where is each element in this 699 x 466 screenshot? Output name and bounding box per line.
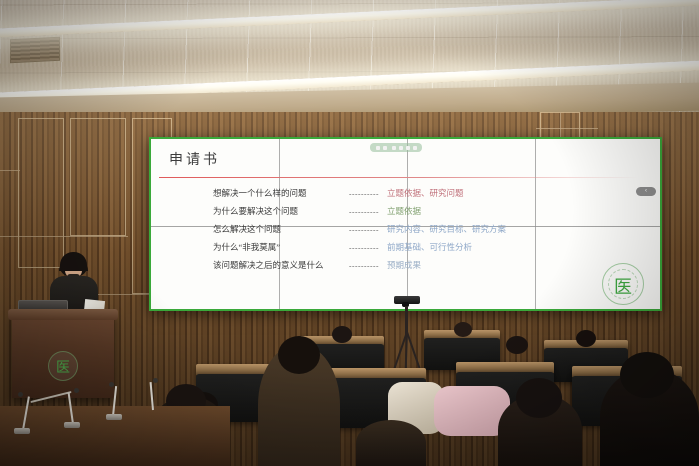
slide-line: 怎么解决这个问题 ---------- 研究内容、研究目标、研究方案 <box>213 223 652 241</box>
slide-line-dash: ---------- <box>349 261 379 270</box>
slide-title: 申请书 <box>169 149 220 169</box>
audience-head <box>278 336 320 374</box>
podium-top-edge <box>8 309 118 320</box>
microphone-head-icon <box>18 392 23 397</box>
slide-title-underline <box>159 177 638 178</box>
camera-tripod <box>392 296 422 374</box>
slide-line-dash: ---------- <box>349 243 379 252</box>
audience-head <box>506 336 528 354</box>
audience-head <box>516 378 562 418</box>
slide-line-question: 怎么解决这个问题 <box>213 223 341 235</box>
audience-head <box>332 326 352 343</box>
slide-line: 该问题解决之后的意义是什么 ---------- 预期成果 <box>213 259 652 277</box>
slide-line-question: 想解决一个什么样的问题 <box>213 187 341 199</box>
podium-emblem-icon: 医 <box>48 351 78 381</box>
slide-institution-logo-icon: 医 <box>602 263 644 305</box>
microphone-base <box>14 428 30 434</box>
lectern-podium: 医 <box>12 312 114 398</box>
slide-line-dash: ---------- <box>349 189 379 198</box>
slide-line-question: 该问题解决之后的意义是什么 <box>213 259 341 271</box>
microphone-head-icon <box>109 382 114 387</box>
podium-emblem-glyph: 医 <box>49 357 77 377</box>
microphone-base <box>106 414 122 420</box>
audience-head <box>454 322 472 337</box>
microphone-head-icon <box>153 378 158 383</box>
slide-line: 想解决一个什么样的问题 ---------- 立题依据、研究问题 <box>213 187 652 205</box>
microphone-base <box>64 422 80 428</box>
audience-head <box>620 352 674 398</box>
slide-line: 为什么“非我莫属” ---------- 前期基础、可行性分析 <box>213 241 652 259</box>
slide-line-answer: 立题依据 <box>387 205 421 217</box>
slide-line-question: 为什么“非我莫属” <box>213 241 341 253</box>
presentation-floating-toolbar[interactable] <box>370 143 422 152</box>
slide-body: 想解决一个什么样的问题 ---------- 立题依据、研究问题 为什么要解决这… <box>213 187 652 277</box>
ceiling <box>0 0 699 118</box>
slide-line-dash: ---------- <box>349 225 379 234</box>
audience-person <box>356 420 426 466</box>
slide-line: 为什么要解决这个问题 ---------- 立题依据 <box>213 205 652 223</box>
audience-head <box>576 330 596 347</box>
ceiling-vent-icon <box>10 37 60 64</box>
slide-line-answer: 前期基础、可行性分析 <box>387 241 472 253</box>
slide-line-dash: ---------- <box>349 207 379 216</box>
microphone-head-icon <box>74 388 79 393</box>
slide-line-answer: 研究内容、研究目标、研究方案 <box>387 223 506 235</box>
slide-logo-glyph: 医 <box>603 273 643 299</box>
slide-line-answer: 立题依据、研究问题 <box>387 187 464 199</box>
projection-video-wall: 申请书 ‹ 想解决一个什么样的问题 ---------- 立题依据、研究问题 为… <box>149 137 662 311</box>
slide-line-question: 为什么要解决这个问题 <box>213 205 341 217</box>
slide-line-answer: 预期成果 <box>387 259 421 271</box>
conference-hall-photo: 申请书 ‹ 想解决一个什么样的问题 ---------- 立题依据、研究问题 为… <box>0 0 699 466</box>
